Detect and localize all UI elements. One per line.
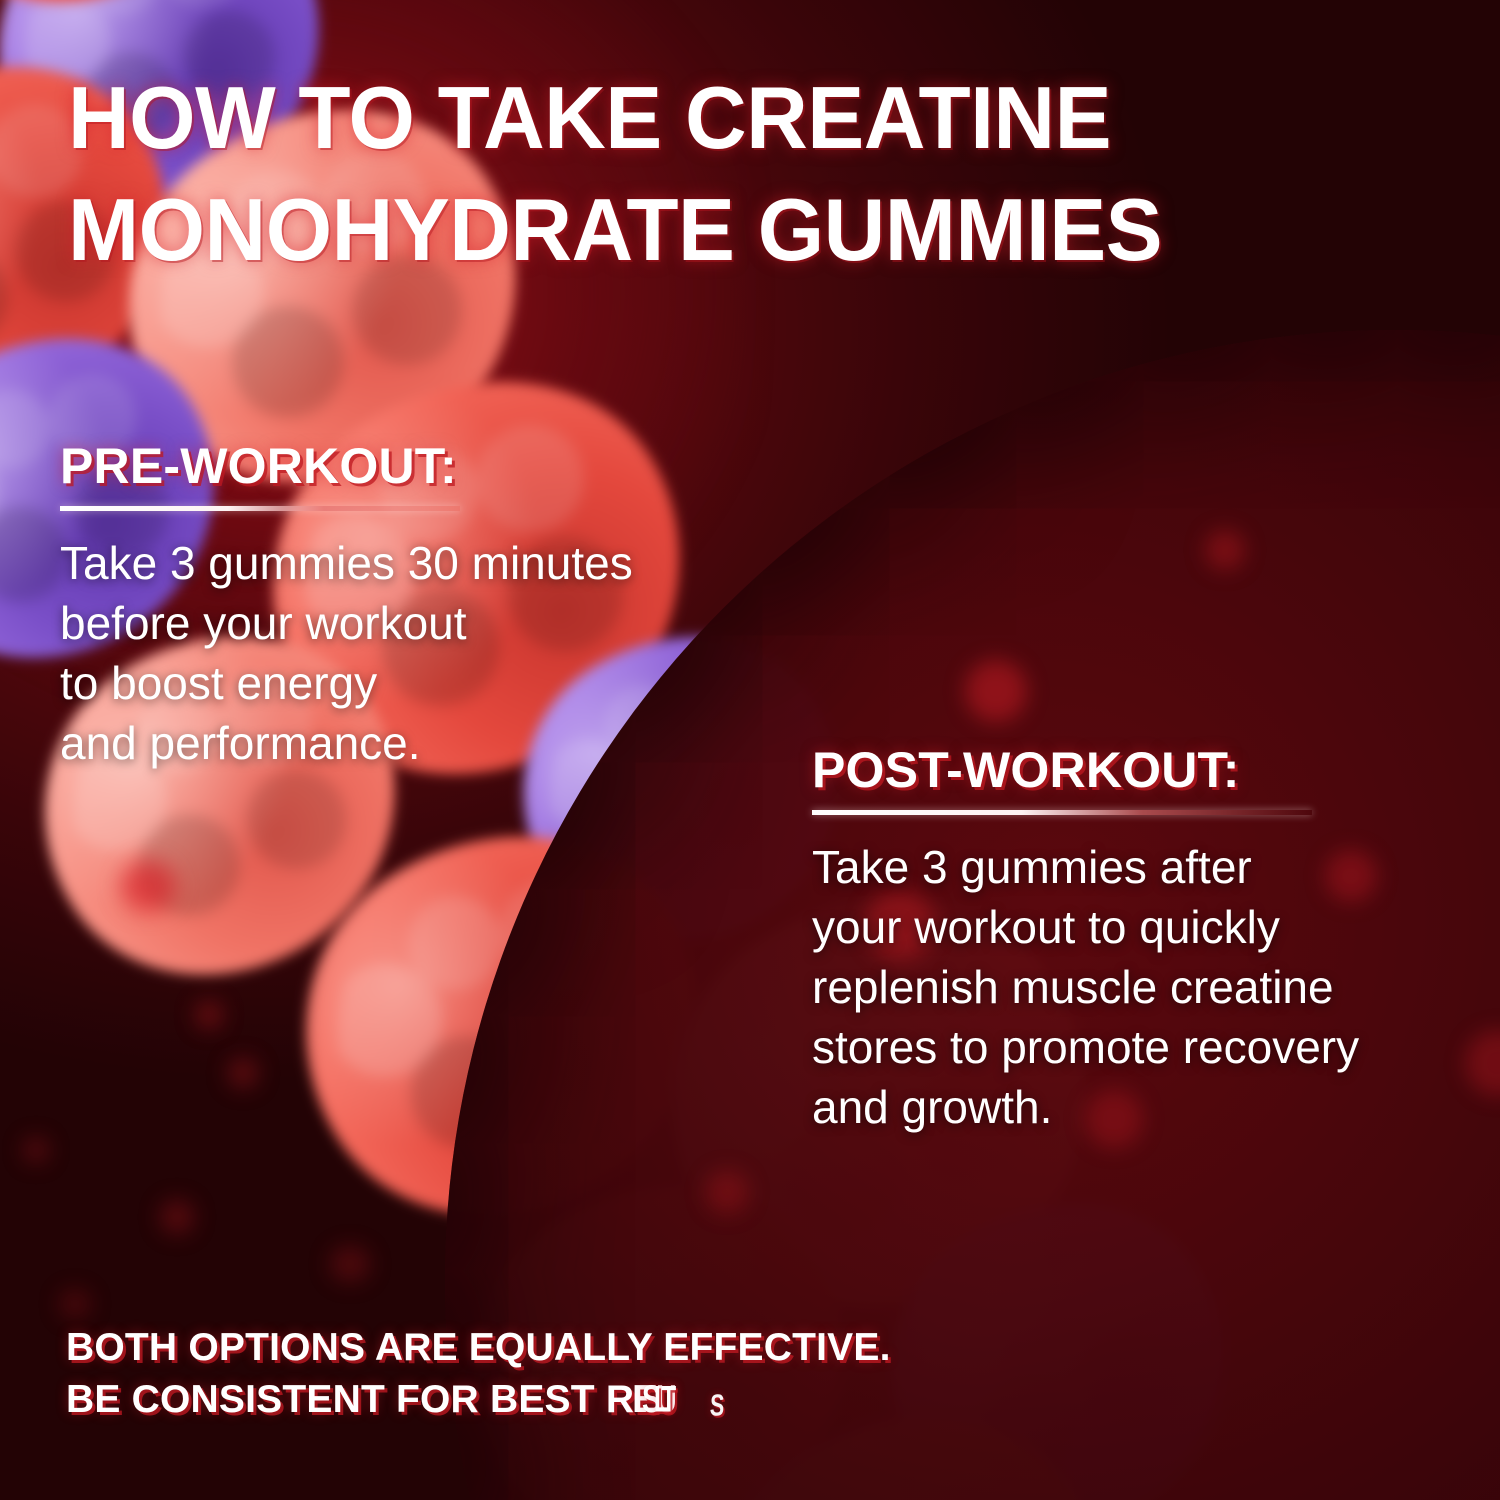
pre-workout-body: Take 3 gummies 30 minutes before your wo… — [60, 533, 760, 773]
pre-workout-divider — [60, 506, 460, 511]
pre-workout-heading: PRE-WORKOUT: — [60, 438, 760, 494]
pre-body-line-3: to boost energy — [60, 653, 760, 713]
post-workout-section: POST-WORKOUT: Take 3 gummies after your … — [812, 742, 1472, 1137]
post-body-line-4: stores to promote recovery — [812, 1017, 1472, 1077]
title-line-1: HOW TO TAKE CREATINE — [68, 62, 1358, 174]
footer-garbled-word: RESULTS — [606, 1374, 681, 1426]
footer-line-2: BE CONSISTENT FOR BEST RESULTS — [66, 1374, 1446, 1426]
post-workout-body: Take 3 gummies after your workout to qui… — [812, 837, 1472, 1137]
glitch-fragment-c: LT — [654, 1376, 671, 1425]
pre-body-line-2: before your workout — [60, 593, 760, 653]
poster-canvas: HOW TO TAKE CREATINE MONOHYDRATE GUMMIES… — [0, 0, 1500, 1500]
page-title: HOW TO TAKE CREATINE MONOHYDRATE GUMMIES — [68, 62, 1358, 286]
footer-line-1: BOTH OPTIONS ARE EQUALLY EFFECTIVE. — [66, 1322, 1446, 1374]
post-body-line-3: replenish muscle creatine — [812, 957, 1472, 1017]
pre-body-line-4: and performance. — [60, 713, 760, 773]
footer-tagline: BOTH OPTIONS ARE EQUALLY EFFECTIVE. BE C… — [66, 1322, 1446, 1426]
post-body-line-1: Take 3 gummies after — [812, 837, 1472, 897]
glitch-fragment-d: S — [709, 1386, 720, 1427]
post-workout-divider — [812, 810, 1312, 815]
pre-workout-section: PRE-WORKOUT: Take 3 gummies 30 minutes b… — [60, 438, 760, 773]
post-workout-heading: POST-WORKOUT: — [812, 742, 1472, 798]
post-body-line-2: your workout to quickly — [812, 897, 1472, 957]
pre-body-line-1: Take 3 gummies 30 minutes — [60, 533, 760, 593]
footer-line-2-prefix: BE CONSISTENT FOR BEST — [66, 1378, 606, 1421]
title-line-2: MONOHYDRATE GUMMIES — [68, 174, 1358, 286]
post-body-line-5: and growth. — [812, 1077, 1472, 1137]
